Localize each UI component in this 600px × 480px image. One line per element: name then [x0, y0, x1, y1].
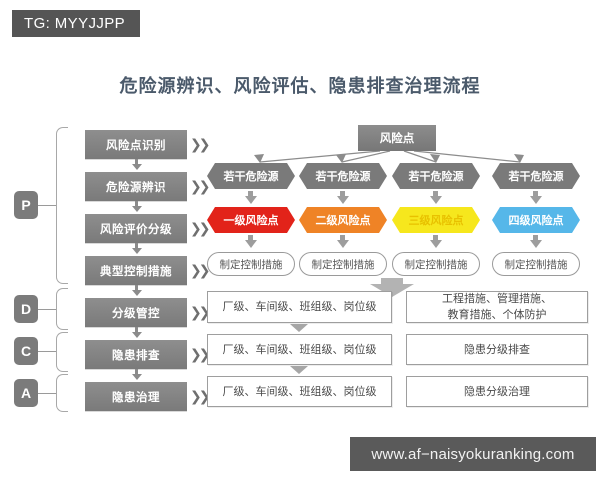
risk-level-hex-1[interactable]: 一级风险点	[207, 207, 295, 233]
stage-arrow-icon	[132, 248, 142, 254]
hazard-source-hex-4[interactable]: 若干危险源	[492, 163, 580, 189]
pdca-letter: P	[21, 197, 30, 213]
stage-label: 风险点识别	[106, 137, 166, 153]
chevron-glyph: ❯❯	[190, 137, 207, 153]
row-connector-arrow-icon	[290, 324, 308, 332]
stage-box-risk-point-identification[interactable]: 风险点识别	[85, 130, 187, 159]
chevron-right-icon: ❯❯	[190, 222, 208, 236]
stage-label: 分级管控	[112, 305, 160, 321]
bottom-row-3-left-box[interactable]: 厂级、车间级、班组级、岗位级	[207, 376, 392, 407]
chevron-right-icon: ❯❯	[190, 306, 208, 320]
flow-arrow-icon	[245, 240, 257, 248]
chevron-glyph: ❯❯	[190, 389, 207, 405]
pdca-brace-d	[56, 288, 68, 330]
risk-level-hex-3[interactable]: 三级风险点	[392, 207, 480, 233]
pdca-connector-d	[38, 309, 56, 310]
tg-tag: TG: MYYJJPP	[12, 10, 140, 37]
risk-level-hex-2[interactable]: 二级风险点	[299, 207, 387, 233]
stage-box-risk-evaluation-grading[interactable]: 风险评价分级	[85, 214, 187, 243]
pdca-brace-p	[56, 127, 68, 284]
hazard-source-label: 若干危险源	[224, 168, 279, 184]
stage-arrow-icon	[132, 206, 142, 212]
stage-box-hazard-governance[interactable]: 隐患治理	[85, 382, 187, 411]
pdca-badge-c: C	[14, 337, 38, 365]
chevron-glyph: ❯❯	[190, 179, 207, 195]
pdca-letter: C	[21, 343, 31, 359]
pdca-badge-a: A	[14, 379, 38, 407]
risk-level-label: 三级风险点	[409, 212, 464, 228]
stage-label: 隐患治理	[112, 389, 160, 405]
bottom-row-left-label: 厂级、车间级、班组级、岗位级	[223, 342, 377, 358]
bottom-row-1-left-box[interactable]: 厂级、车间级、班组级、岗位级	[207, 291, 392, 323]
hazard-source-hex-3[interactable]: 若干危险源	[392, 163, 480, 189]
chevron-glyph: ❯❯	[190, 221, 207, 237]
risk-level-label: 一级风险点	[224, 212, 279, 228]
control-measure-pill-2[interactable]: 制定控制措施	[299, 252, 387, 276]
bottom-row-right-label: 工程措施、管理措施、 教育措施、个体防护	[442, 291, 552, 323]
chevron-right-icon: ❯❯	[190, 390, 208, 404]
stage-label: 隐患排查	[112, 347, 160, 363]
risk-level-label: 四级风险点	[509, 212, 564, 228]
stage-arrow-icon	[132, 332, 142, 338]
control-measure-label: 制定控制措施	[312, 257, 375, 272]
pdca-connector-p	[38, 205, 56, 206]
stage-label: 风险评价分级	[100, 221, 172, 237]
bottom-row-3-right-box[interactable]: 隐患分级治理	[406, 376, 588, 407]
stage-label: 危险源辨识	[106, 179, 166, 195]
chevron-glyph: ❯❯	[190, 263, 207, 279]
hazard-source-label: 若干危险源	[316, 168, 371, 184]
control-measure-label: 制定控制措施	[220, 257, 283, 272]
risk-level-label: 二级风险点	[316, 212, 371, 228]
control-measure-pill-4[interactable]: 制定控制措施	[492, 252, 580, 276]
control-measure-label: 制定控制措施	[405, 257, 468, 272]
page-title: 危险源辨识、风险评估、隐患排查治理流程	[0, 72, 600, 98]
bottom-row-left-label: 厂级、车间级、班组级、岗位级	[223, 384, 377, 400]
watermark-label: www.af−naisyokuranking.com	[371, 446, 574, 463]
chevron-right-icon: ❯❯	[190, 348, 208, 362]
pdca-letter: D	[21, 301, 31, 317]
pdca-badge-d: D	[14, 295, 38, 323]
chevron-right-icon: ❯❯	[190, 180, 208, 194]
stage-box-typical-control-measures[interactable]: 典型控制措施	[85, 256, 187, 285]
pdca-connector-a	[38, 393, 56, 394]
flow-arrow-icon	[530, 196, 542, 204]
bottom-row-2-left-box[interactable]: 厂级、车间级、班组级、岗位级	[207, 334, 392, 365]
chevron-glyph: ❯❯	[190, 347, 207, 363]
hazard-source-hex-1[interactable]: 若干危险源	[207, 163, 295, 189]
stage-label: 典型控制措施	[100, 263, 172, 279]
bottom-row-left-label: 厂级、车间级、班组级、岗位级	[223, 299, 377, 315]
flow-arrow-icon	[337, 240, 349, 248]
stage-arrow-icon	[132, 290, 142, 296]
flow-arrow-icon	[430, 196, 442, 204]
flow-arrow-icon	[245, 196, 257, 204]
stage-arrow-icon	[132, 164, 142, 170]
pdca-letter: A	[21, 385, 31, 401]
pdca-connector-c	[38, 351, 56, 352]
risk-point-box[interactable]: 风险点	[358, 125, 436, 151]
bottom-row-1-right-box[interactable]: 工程措施、管理措施、 教育措施、个体防护	[406, 291, 588, 323]
risk-level-hex-4[interactable]: 四级风险点	[492, 207, 580, 233]
chevron-glyph: ❯❯	[190, 305, 207, 321]
pdca-brace-a	[56, 374, 68, 412]
tg-tag-label: TG: MYYJJPP	[24, 15, 125, 32]
bottom-row-2-right-box[interactable]: 隐患分级排查	[406, 334, 588, 365]
watermark: www.af−naisyokuranking.com	[350, 437, 596, 471]
control-measure-pill-1[interactable]: 制定控制措施	[207, 252, 295, 276]
hazard-source-hex-2[interactable]: 若干危险源	[299, 163, 387, 189]
chevron-right-icon: ❯❯	[190, 138, 208, 152]
pdca-badge-p: P	[14, 191, 38, 219]
stage-arrow-icon	[132, 374, 142, 380]
row-connector-arrow-icon	[290, 366, 308, 374]
stage-box-hazard-identification[interactable]: 危险源辨识	[85, 172, 187, 201]
flow-arrow-icon	[530, 240, 542, 248]
chevron-right-icon: ❯❯	[190, 264, 208, 278]
flow-arrow-icon	[337, 196, 349, 204]
control-measure-label: 制定控制措施	[505, 257, 568, 272]
flow-arrow-icon	[430, 240, 442, 248]
pdca-brace-c	[56, 332, 68, 372]
risk-point-label: 风险点	[380, 130, 415, 146]
stage-box-graded-control[interactable]: 分级管控	[85, 298, 187, 327]
control-measure-pill-3[interactable]: 制定控制措施	[392, 252, 480, 276]
hazard-source-label: 若干危险源	[509, 168, 564, 184]
bottom-row-right-label: 隐患分级治理	[464, 384, 530, 400]
bottom-row-right-label: 隐患分级排查	[464, 342, 530, 358]
hazard-source-label: 若干危险源	[409, 168, 464, 184]
stage-box-hazard-inspection[interactable]: 隐患排查	[85, 340, 187, 369]
